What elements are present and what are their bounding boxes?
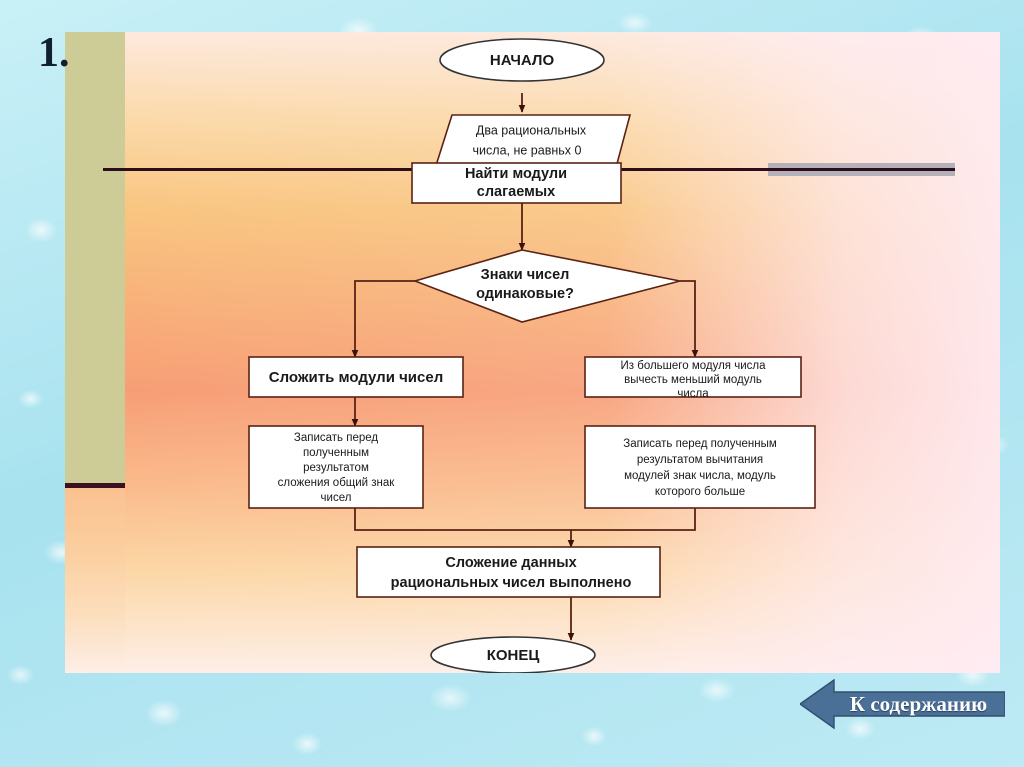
find-moduli-line-1: Найти модули <box>465 166 567 182</box>
subtract-moduli-line-1: Из большего модуля числа <box>621 360 767 372</box>
result-line-1: Сложение данных <box>445 555 576 571</box>
node-add-moduli: Сложить модули чисел <box>249 357 463 397</box>
add-moduli-label: Сложить модули чисел <box>269 369 444 386</box>
write-diff-sign-line-3: модулей знак числа, модуль <box>624 470 776 482</box>
flowchart-diagram: НАЧАЛО Два рациональных числа, не равньх… <box>125 32 1000 673</box>
content-panel-left-strip <box>65 488 125 673</box>
write-sum-sign-line-2: полученным <box>303 447 369 459</box>
connector-write-sum-to-result <box>355 508 571 547</box>
connector-decision-yes <box>355 281 415 357</box>
write-sum-sign-line-3: результатом <box>303 462 369 474</box>
write-diff-sign-line-1: Записать перед полученным <box>623 438 777 450</box>
write-sum-sign-line-4: сложения общий знак <box>278 477 396 489</box>
find-moduli-line-2: слагаемых <box>477 184 556 200</box>
slide-canvas: 1. НАЧАЛО <box>0 0 1024 767</box>
node-write-sum-sign: Записать перед полученным результатом сл… <box>249 426 423 508</box>
input-line-2: числа, не равньх 0 <box>473 143 582 157</box>
subtract-moduli-line-3: числа <box>677 388 709 400</box>
subtract-moduli-line-2: вычесть меньший модуль <box>624 374 762 386</box>
node-find-moduli: Найти модули слагаемых <box>412 163 621 203</box>
node-end: КОНЕЦ <box>431 637 595 673</box>
decision-line-2: одинаковые? <box>476 286 574 302</box>
write-sum-sign-line-1: Записать перед <box>294 432 379 444</box>
result-line-2: рациональных чисел выполнено <box>391 575 632 591</box>
end-terminator-label: КОНЕЦ <box>487 647 540 664</box>
node-write-diff-sign: Записать перед полученным результатом вы… <box>585 426 815 508</box>
input-line-1: Два рациональных <box>476 123 587 137</box>
slide-number: 1. <box>38 32 70 74</box>
write-diff-sign-line-4: которого больше <box>655 486 745 498</box>
connector-write-diff-to-result <box>571 508 695 530</box>
write-sum-sign-line-5: чисел <box>321 492 352 504</box>
left-accent-band <box>65 32 125 483</box>
decision-line-1: Знаки чисел <box>481 267 570 283</box>
back-arrow-icon[interactable] <box>800 678 1005 730</box>
left-accent-rule <box>65 483 125 488</box>
node-decision: Знаки чисел одинаковые? <box>415 250 680 322</box>
node-result: Сложение данных рациональных чисел выпол… <box>357 547 660 597</box>
start-terminator-label: НАЧАЛО <box>490 52 555 69</box>
back-to-contents-button[interactable]: К содержанию <box>800 678 1005 730</box>
connector-decision-no <box>680 281 695 357</box>
node-start: НАЧАЛО <box>440 39 604 81</box>
write-diff-sign-line-2: результатом вычитания <box>637 454 763 466</box>
node-subtract-moduli: Из большего модуля числа вычесть меньший… <box>585 357 801 400</box>
